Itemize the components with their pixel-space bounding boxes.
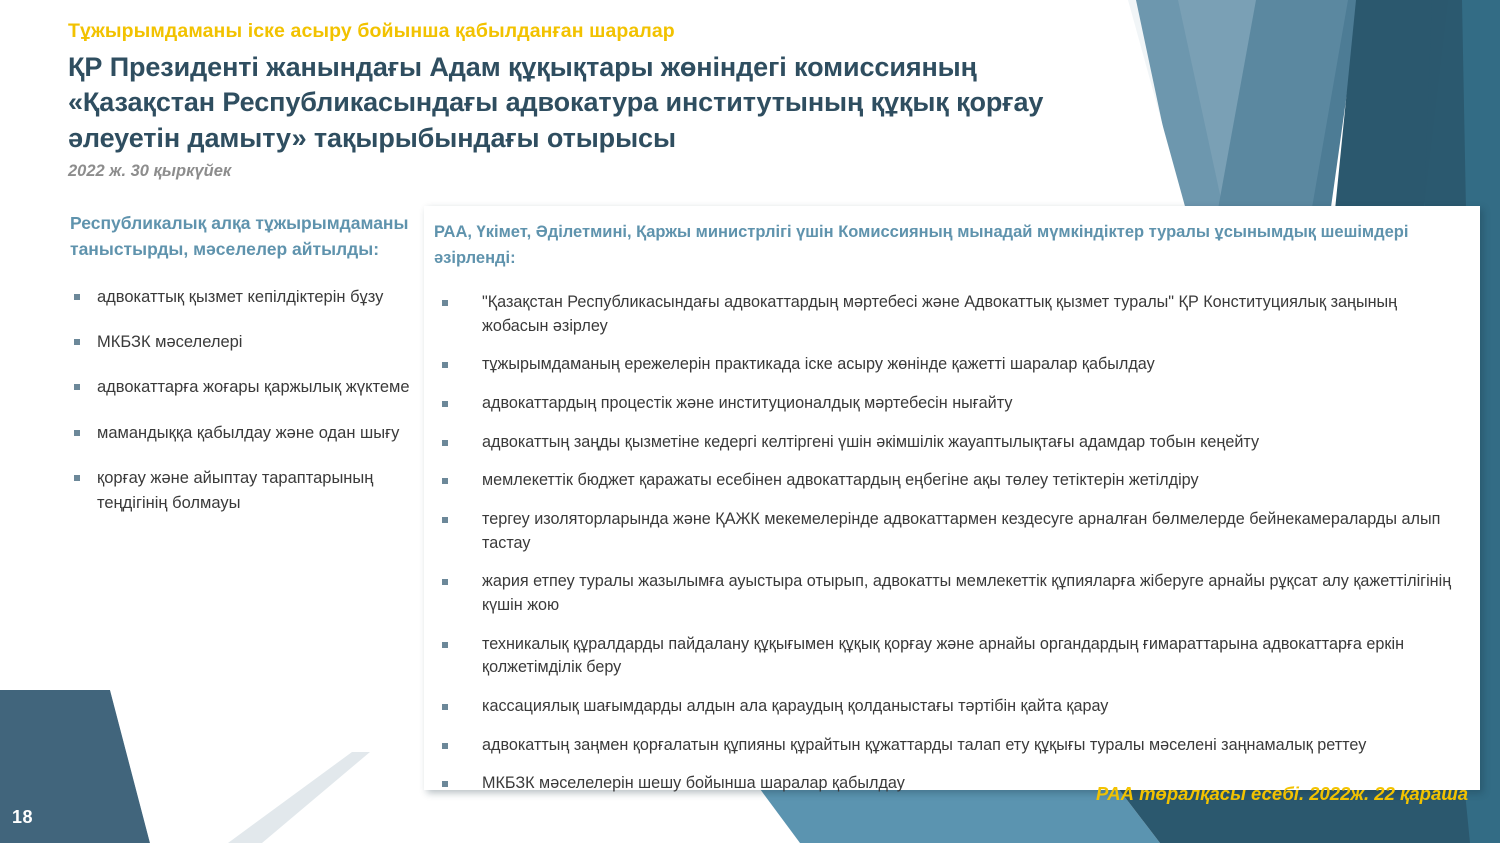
recommendations-list: "Қазақстан Республикасындағы адвокаттард… (432, 291, 1464, 796)
presentation-slide: Тұжырымдаманы іске асыру бойынша қабылда… (0, 0, 1500, 843)
left-column: Республикалық алқа тұжырымдаманы танысты… (70, 210, 418, 536)
list-item: адвокаттық қызмет кепілдіктерін бұзу (70, 285, 418, 309)
header-date: 2022 ж. 30 қыркүйек (68, 162, 1128, 181)
list-item: адвокаттың заңды қызметіне кедергі келті… (432, 431, 1464, 455)
deco-corner-bottom-left-shadow (110, 690, 166, 843)
recommendations-panel: РАА, Үкімет, Әділетмині, Қаржы министрлі… (424, 206, 1480, 790)
list-item: мемлекеттік бюджет қаражаты есебінен адв… (432, 469, 1464, 493)
list-item: адвокаттың заңмен қорғалатын құпияны құр… (432, 734, 1464, 758)
deco-band-light-top (1128, 0, 1240, 210)
header-eyebrow: Тұжырымдаманы іске асыру бойынша қабылда… (68, 18, 1128, 44)
list-item: мамандыққа қабылдау және одан шығу (70, 421, 418, 445)
deco-thin-diagonal (228, 752, 370, 843)
page-title: ҚР Президенті жанындағы Адам құқықтары ж… (68, 50, 1128, 155)
list-item: тұжырымдаманың ережелерін практикада іск… (432, 353, 1464, 377)
list-item: жария етпеу туралы жазылымға ауыстыра от… (432, 570, 1464, 617)
list-item: "Қазақстан Республикасындағы адвокаттард… (432, 291, 1464, 338)
deco-band-teal-right (1420, 0, 1500, 240)
list-item: адвокаттардың процестік және институцион… (432, 392, 1464, 416)
list-item: кассациялық шағымдарды алдын ала қарауды… (432, 695, 1464, 719)
slide-header: Тұжырымдаманы іске асыру бойынша қабылда… (68, 18, 1128, 181)
recommendations-panel-inner: РАА, Үкімет, Әділетмині, Қаржы министрлі… (424, 206, 1480, 811)
list-item: тергеу изоляторларында және ҚАЖК мекемел… (432, 508, 1464, 555)
slide-number: 18 (12, 807, 33, 828)
left-column-list: адвокаттық қызмет кепілдіктерін бұзу МКБ… (70, 285, 418, 515)
list-item: қорғау және айыптау тараптарының теңдігі… (70, 466, 418, 515)
list-item: адвокаттарға жоғары қаржылық жүктеме (70, 375, 418, 399)
left-column-heading: Республикалық алқа тұжырымдаманы танысты… (70, 210, 418, 263)
footer-note: РАА төралқасы есебі. 2022ж. 22 қараша (1096, 783, 1468, 805)
list-item: МКБЗК мәселелері (70, 330, 418, 354)
recommendations-heading: РАА, Үкімет, Әділетмині, Қаржы министрлі… (434, 220, 1464, 271)
list-item: техникалық құралдарды пайдалану құқығыме… (432, 633, 1464, 680)
